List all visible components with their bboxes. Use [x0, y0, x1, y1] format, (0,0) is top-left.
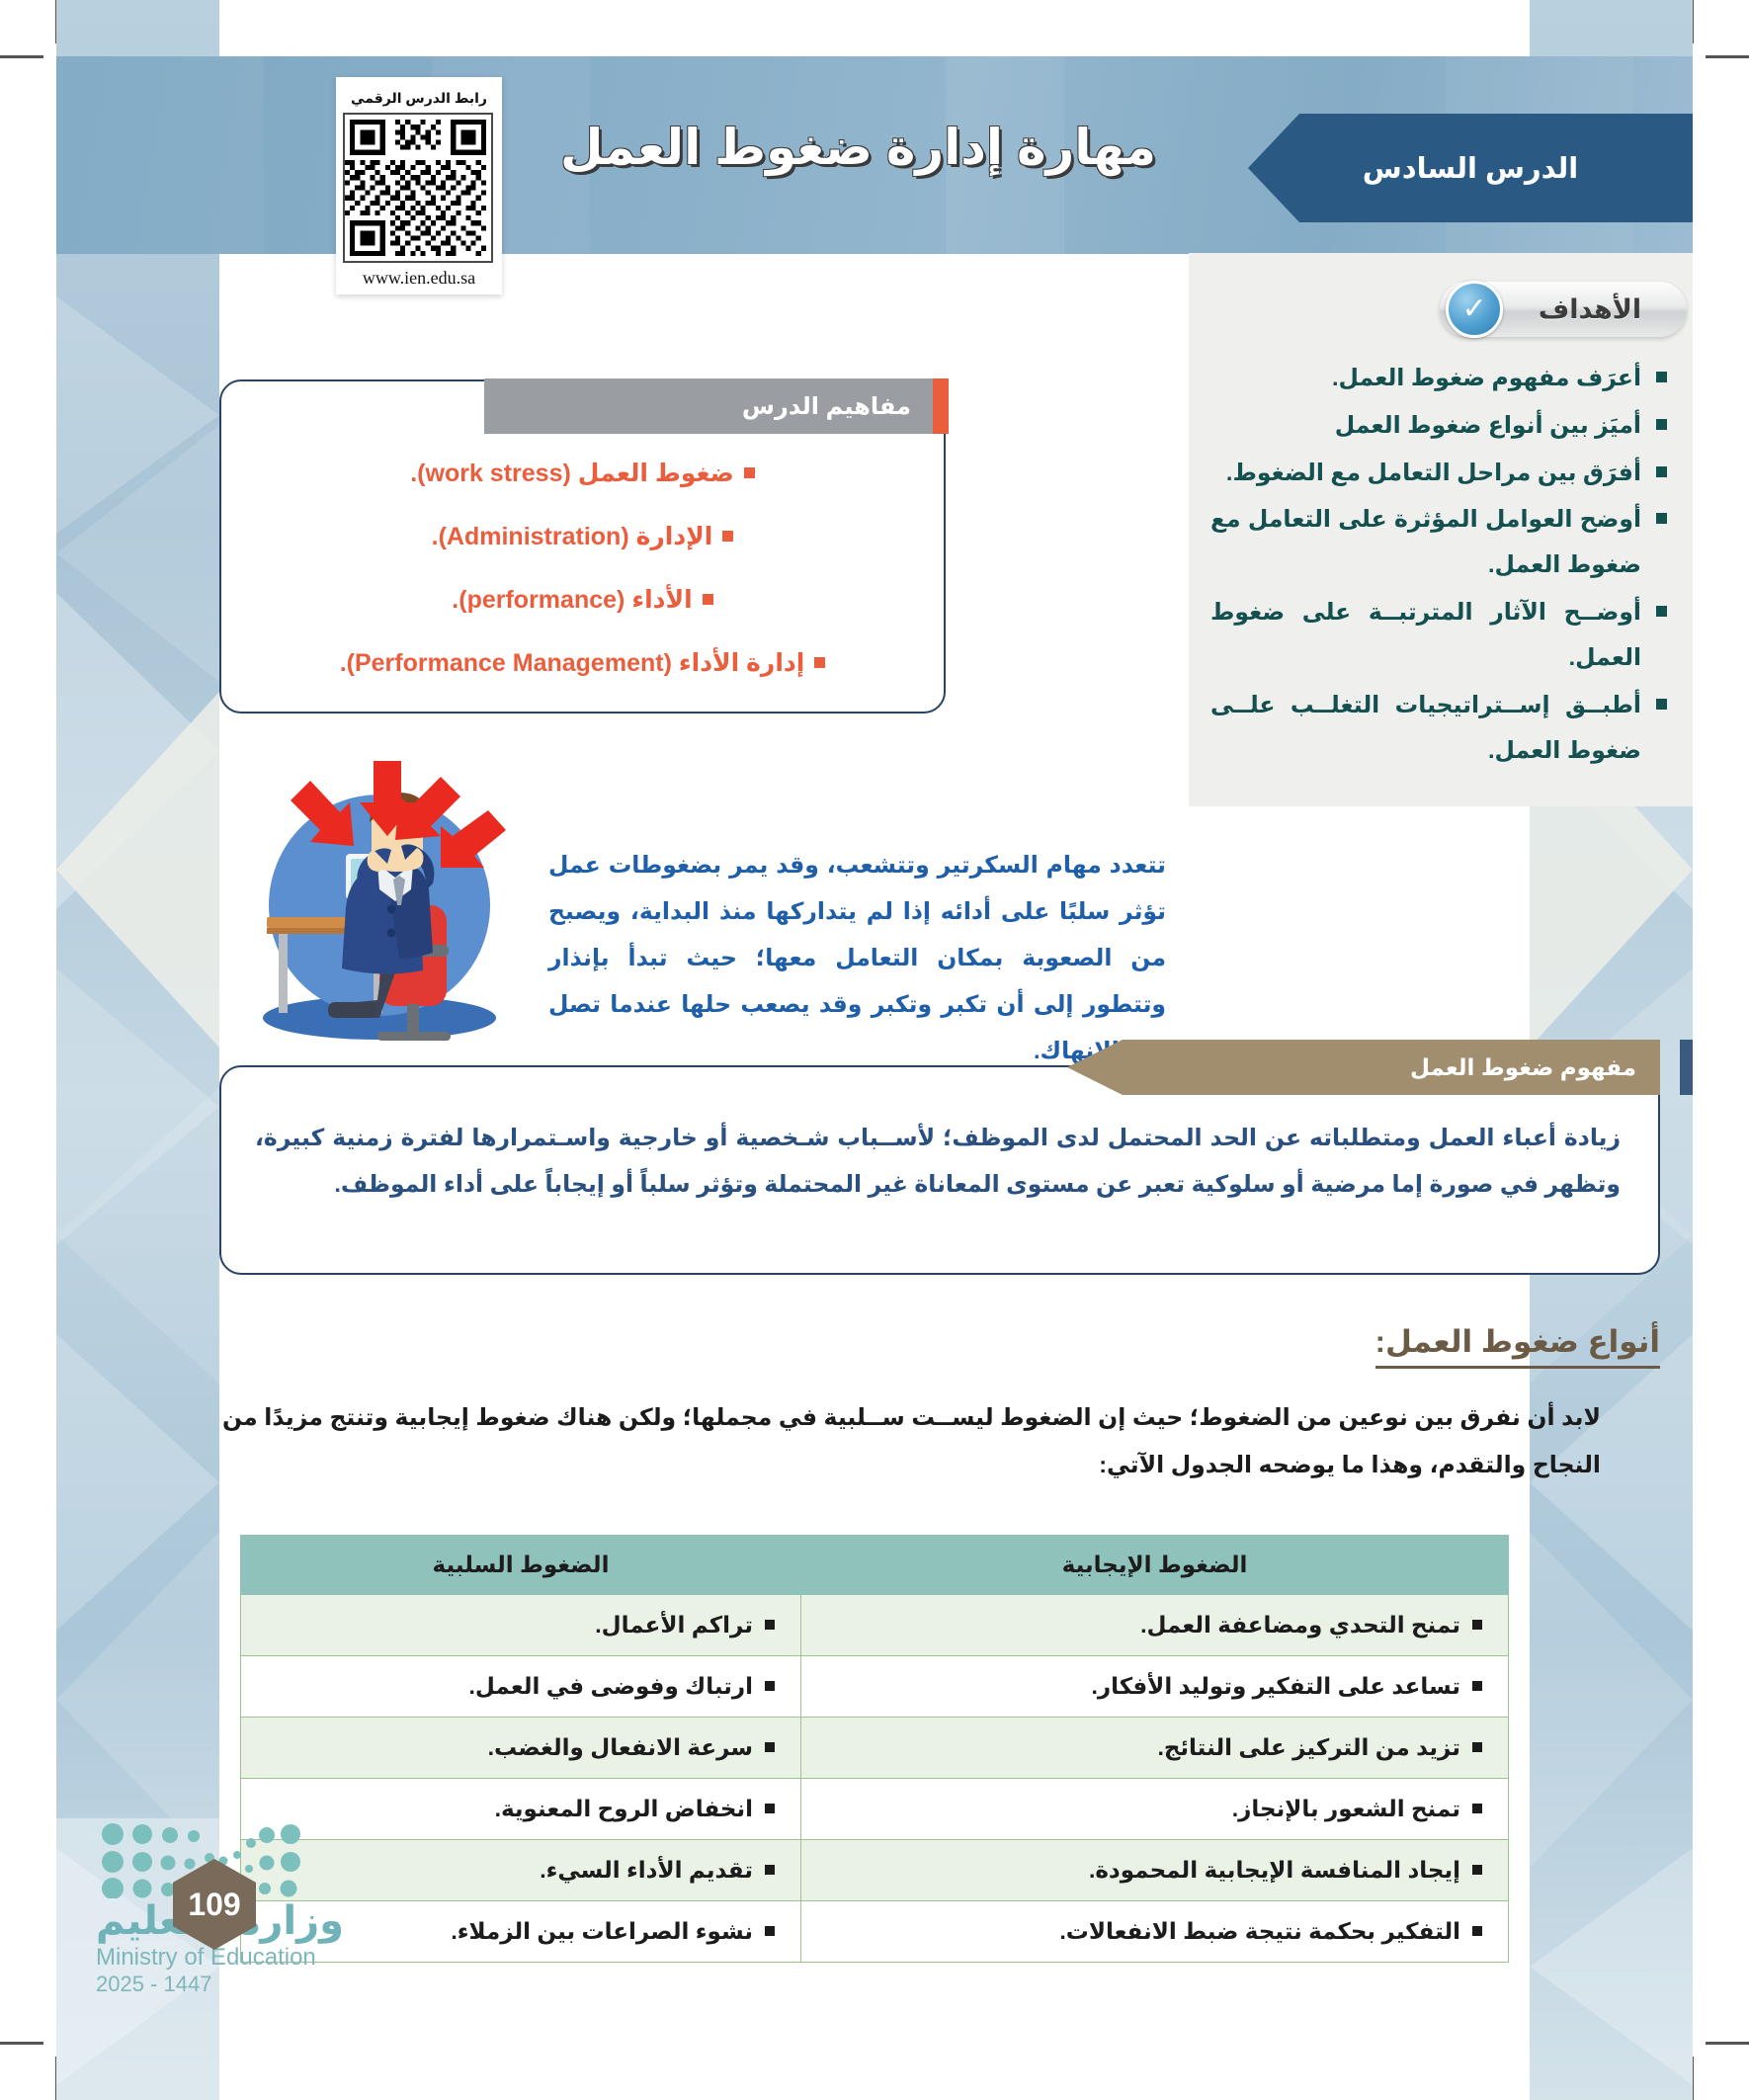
concept-en: work stress	[426, 460, 563, 487]
objective-item: أميَز بين أنواع ضغوط العمل	[1210, 403, 1675, 449]
square-bullet-icon	[1472, 1742, 1482, 1752]
stressed-office-worker-illustration	[229, 759, 545, 1048]
table-cell: نشوء الصراعات بين الزملاء.	[241, 1901, 801, 1963]
objectives-list: أعرَف مفهوم ضغوط العمل. أميَز بين أنواع …	[1210, 356, 1675, 775]
crop-mark	[0, 55, 43, 58]
concept-ar: الأداء	[631, 586, 692, 614]
table-cell: سرعة الانفعال والغضب.	[241, 1718, 801, 1779]
square-bullet-icon	[765, 1742, 775, 1752]
table-row: تزيد من التركيز على النتائج. سرعة الانفع…	[241, 1718, 1509, 1779]
qr-caption: رابط الدرس الرقمي	[345, 90, 493, 107]
cell-text: التفكير بحكمة نتيجة ضبط الانفعالات.	[1059, 1918, 1460, 1944]
square-bullet-icon	[814, 657, 825, 668]
concept-item: الأداء (performance).	[261, 585, 904, 615]
check-circle-icon: ✓	[1446, 281, 1503, 338]
cell-text: نشوء الصراعات بين الزملاء.	[451, 1918, 753, 1944]
cell-text: تقديم الأداء السيء.	[540, 1857, 753, 1883]
definition-header-label: مفهوم ضغوط العمل	[1067, 1054, 1660, 1081]
table-cell: ارتباك وفوضى في العمل.	[241, 1656, 801, 1718]
square-bullet-icon	[765, 1620, 775, 1630]
square-bullet-icon	[765, 1926, 775, 1936]
concept-item: ضغوط العمل (work stress).	[261, 459, 904, 488]
crop-mark	[0, 2042, 43, 2045]
square-bullet-icon	[1472, 1865, 1482, 1875]
table-row: تمنح التحدي ومضاعفة العمل. تراكم الأعمال…	[241, 1595, 1509, 1656]
cell-text: تمنح الشعور بالإنجاز.	[1232, 1796, 1460, 1821]
cell-text: تراكم الأعمال.	[595, 1612, 753, 1638]
cell-text: تساعد على التفكير وتوليد الأفكار.	[1091, 1673, 1460, 1699]
objectives-header: الأهداف ✓	[1440, 282, 1687, 337]
table-cell: انخفاض الروح المعنوية.	[241, 1779, 801, 1840]
types-heading: أنواع ضغوط العمل:	[1375, 1324, 1660, 1369]
square-bullet-icon	[722, 531, 733, 542]
concept-item: الإدارة (Administration).	[261, 522, 904, 551]
concept-ar: ضغوط العمل	[578, 460, 734, 487]
orange-cap	[933, 378, 949, 434]
cell-text: سرعة الانفعال والغضب.	[488, 1734, 753, 1760]
square-bullet-icon	[765, 1804, 775, 1813]
types-paragraph: لابد أن نفرق بين نوعين من الضغوط؛ حيث إن…	[222, 1393, 1601, 1488]
concept-en: Administration	[447, 523, 621, 550]
lesson-concepts-header-label: مفاهيم الدرس	[484, 392, 933, 421]
table-row: تساعد على التفكير وتوليد الأفكار. ارتباك…	[241, 1656, 1509, 1718]
cell-text: انخفاض الروح المعنوية.	[495, 1796, 753, 1821]
concept-en: Performance Management	[355, 649, 664, 677]
crop-mark	[1706, 55, 1749, 58]
concept-en: performance	[467, 586, 617, 614]
page-title: مهارة إدارة ضغوط العمل	[560, 119, 1156, 176]
table-cell: التفكير بحكمة نتيجة ضبط الانفعالات.	[801, 1901, 1509, 1963]
concept-item: إدارة الأداء (Performance Management).	[261, 648, 904, 678]
square-bullet-icon	[765, 1865, 775, 1875]
square-bullet-icon	[1472, 1926, 1482, 1936]
cell-text: تمنح التحدي ومضاعفة العمل.	[1140, 1612, 1460, 1638]
table-row: تمنح الشعور بالإنجاز. انخفاض الروح المعن…	[241, 1779, 1509, 1840]
table-cell: تزيد من التركيز على النتائج.	[801, 1718, 1509, 1779]
square-bullet-icon	[703, 594, 713, 605]
concept-ar: الإدارة	[636, 523, 713, 550]
decorative-band-left	[56, 0, 219, 2100]
table-cell: تمنح التحدي ومضاعفة العمل.	[801, 1595, 1509, 1656]
objective-item: أفرَق بين مراحل التعامل مع الضغوط.	[1210, 451, 1675, 496]
definition-header: مفهوم ضغوط العمل	[1067, 1040, 1660, 1095]
stress-types-table: الضغوط الإيجابية الضغوط السلبية تمنح الت…	[240, 1535, 1509, 1963]
objective-item: أعرَف مفهوم ضغوط العمل.	[1210, 356, 1675, 401]
objective-item: أوضح العوامل المؤثرة على التعامل مع ضغوط…	[1210, 497, 1675, 588]
table-cell: تراكم الأعمال.	[241, 1595, 801, 1656]
table-header-cell: الضغوط السلبية	[241, 1536, 801, 1595]
table-cell: إيجاد المنافسة الإيجابية المحمودة.	[801, 1840, 1509, 1901]
cell-text: إيجاد المنافسة الإيجابية المحمودة.	[1089, 1857, 1460, 1883]
square-bullet-icon	[744, 467, 755, 478]
digital-lesson-qr-card[interactable]: رابط الدرس الرقمي	[336, 77, 502, 294]
qr-code-icon	[343, 113, 493, 263]
definition-header-cap	[1680, 1040, 1693, 1095]
definition-text: زيادة أعباء العمل ومتطلباته عن الحد المح…	[255, 1115, 1621, 1208]
table-header-cell: الضغوط الإيجابية	[801, 1536, 1509, 1595]
concept-ar: إدارة الأداء	[679, 649, 804, 677]
objective-item: أوضــح الآثار المترتبــة على ضغوط العمل.	[1210, 590, 1675, 681]
intro-paragraph: تتعدد مهام السكرتير وتتشعب، وقد يمر بضغو…	[548, 842, 1166, 1074]
lesson-number-tab: الدرس السادس	[1248, 114, 1693, 222]
table-cell: تمنح الشعور بالإنجاز.	[801, 1779, 1509, 1840]
table-header-row: الضغوط الإيجابية الضغوط السلبية	[241, 1536, 1509, 1595]
table-row: إيجاد المنافسة الإيجابية المحمودة. تقديم…	[241, 1840, 1509, 1901]
crop-mark	[1706, 2042, 1749, 2045]
table-cell: تقديم الأداء السيء.	[241, 1840, 801, 1901]
square-bullet-icon	[1472, 1804, 1482, 1813]
cell-text: ارتباك وفوضى في العمل.	[469, 1673, 753, 1699]
lesson-number-label: الدرس السادس	[1363, 151, 1578, 186]
textbook-page: الدرس السادس مهارة إدارة ضغوط العمل رابط…	[0, 0, 1749, 2100]
square-bullet-icon	[765, 1681, 775, 1691]
qr-url: www.ien.edu.sa	[345, 268, 493, 289]
lesson-concepts-header: مفاهيم الدرس	[484, 378, 949, 434]
table-row: التفكير بحكمة نتيجة ضبط الانفعالات. نشوء…	[241, 1901, 1509, 1963]
table-cell: تساعد على التفكير وتوليد الأفكار.	[801, 1656, 1509, 1718]
objectives-header-label: الأهداف	[1499, 294, 1687, 325]
square-bullet-icon	[1472, 1620, 1482, 1630]
objective-item: أطبــق إســتراتيجيات التغلــب علــى ضغوط…	[1210, 683, 1675, 774]
cell-text: تزيد من التركيز على النتائج.	[1157, 1734, 1460, 1760]
square-bullet-icon	[1472, 1681, 1482, 1691]
